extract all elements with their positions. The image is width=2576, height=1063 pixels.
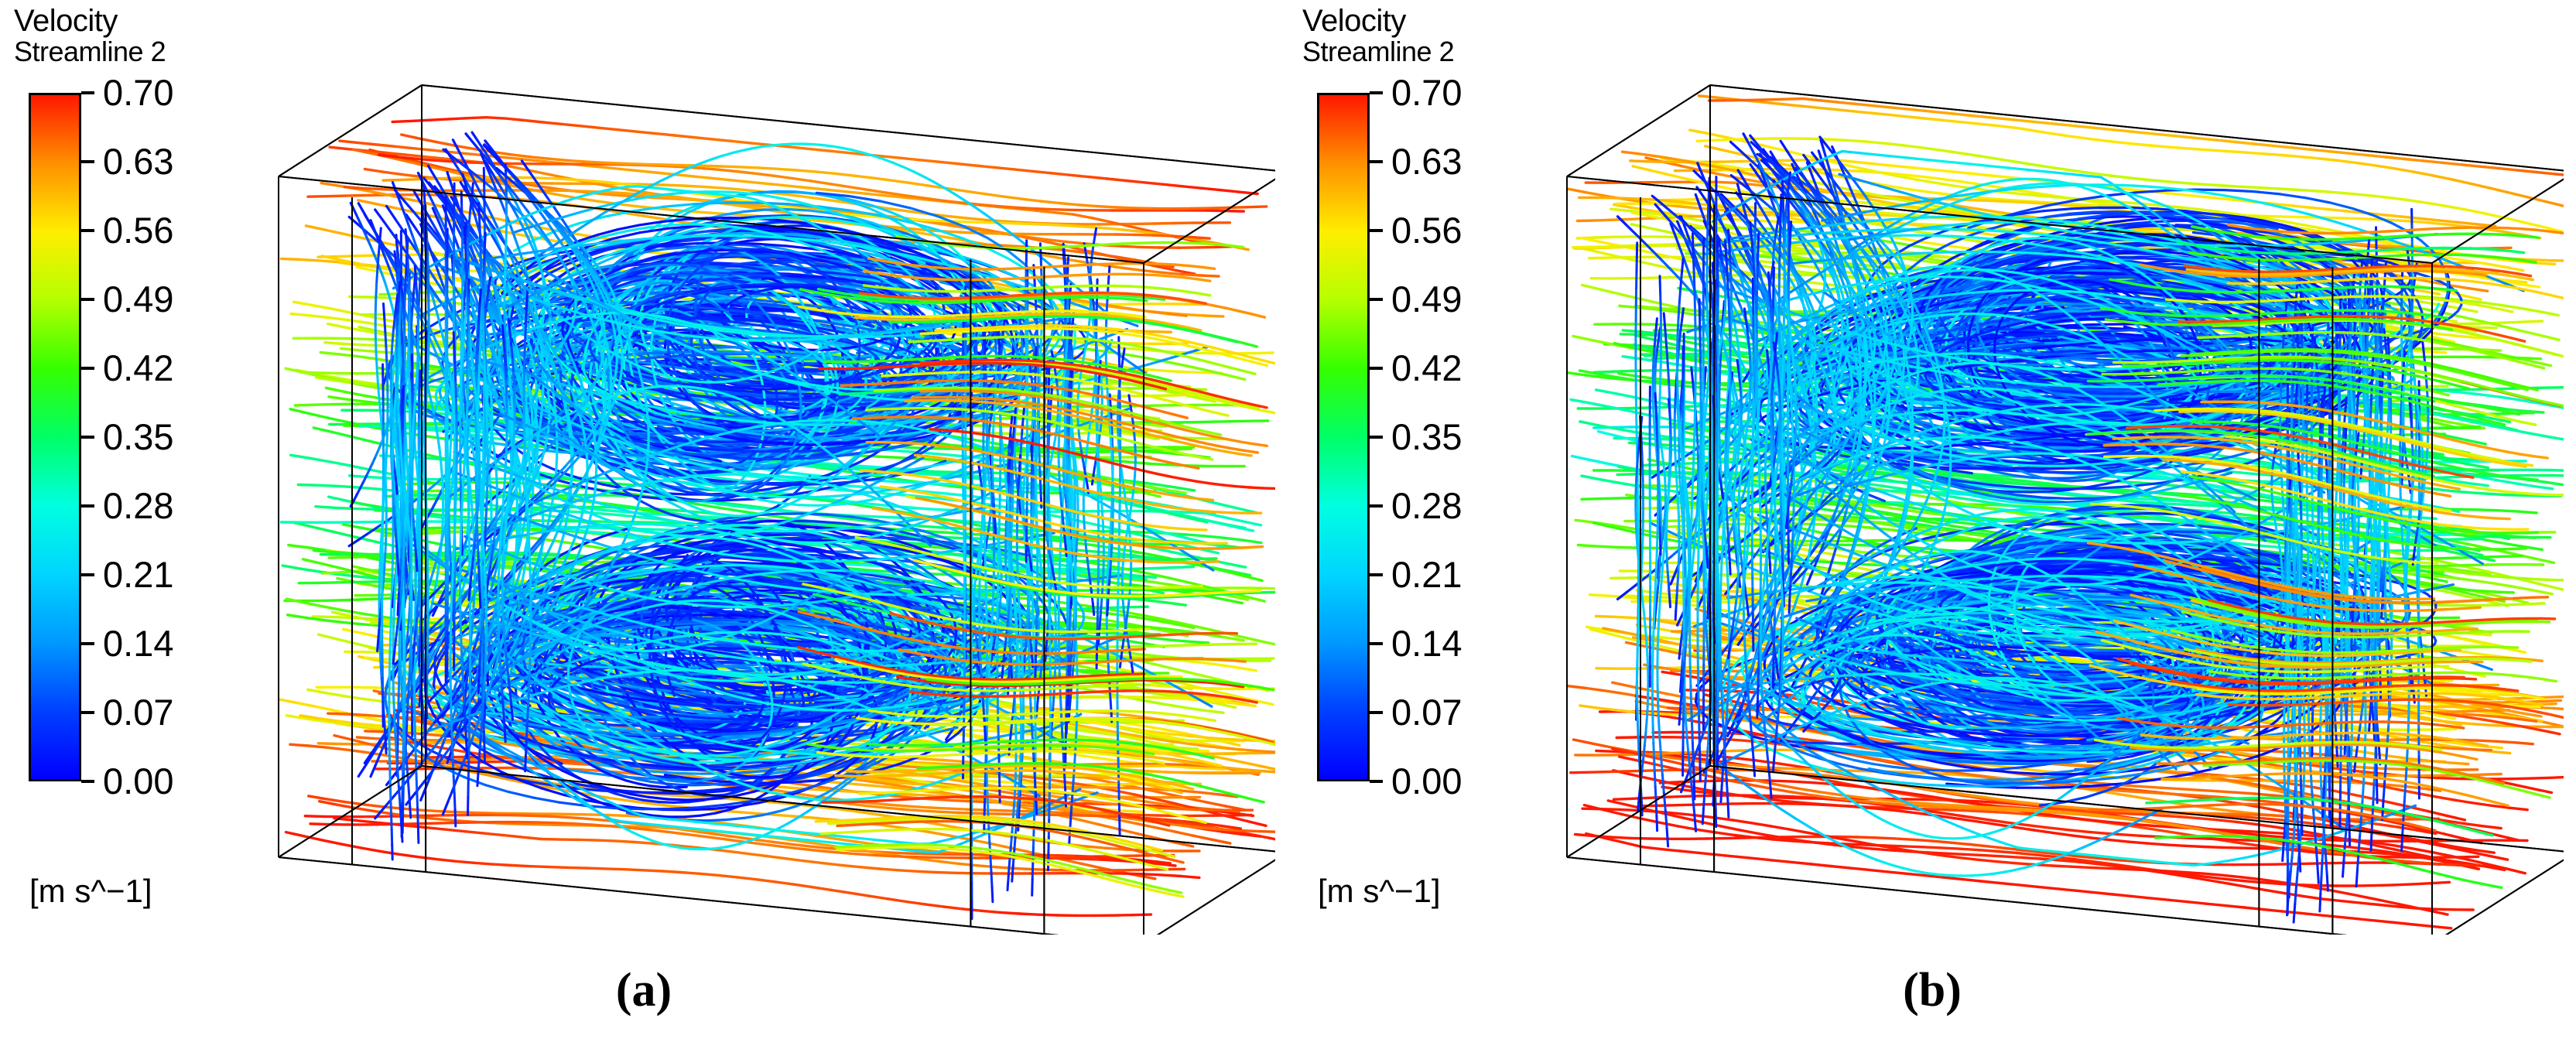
colorbar-tick-label: 0.35: [1391, 415, 1462, 459]
colorbar-tick-label: 0.14: [103, 622, 173, 665]
colorbar-ticks-a: 0.700.630.560.490.420.350.280.210.140.07…: [81, 93, 228, 781]
colorbar-tick-label: 0.28: [103, 484, 173, 528]
streamline-canvas-a: [246, 14, 1275, 935]
colorbar-gradient-b: [1317, 93, 1370, 781]
colorbar-tick-label: 0.21: [103, 553, 173, 596]
legend-title-line2: Streamline 2: [14, 36, 246, 68]
streamline-plot-b: [1534, 14, 2564, 935]
colorbar-tick-dash: [81, 436, 94, 439]
streamline-canvas-b: [1534, 14, 2564, 935]
panel-caption-a: (a): [0, 963, 1288, 1018]
colorbar-tick-dash: [1370, 91, 1383, 94]
colorbar-tick-dash: [1370, 642, 1383, 645]
colorbar-tick-label: 0.07: [103, 691, 173, 734]
legend-units-a: [m s^−1]: [29, 873, 152, 910]
colorbar-tick-dash: [81, 229, 94, 232]
colorbar-tick-dash: [1370, 367, 1383, 370]
colorbar-tick-dash: [1370, 780, 1383, 783]
colorbar-tick-dash: [1370, 298, 1383, 301]
colorbar-tick-label: 0.63: [103, 140, 173, 183]
colorbar-tick-label: 0.56: [103, 209, 173, 252]
colorbar-ticks-b: 0.700.630.560.490.420.350.280.210.140.07…: [1370, 93, 1517, 781]
panel-caption-b: (b): [1288, 963, 2576, 1018]
colorbar-tick-label: 0.21: [1391, 553, 1462, 596]
colorbar-tick-label: 0.14: [1391, 622, 1462, 665]
colorbar-tick-dash: [1370, 229, 1383, 232]
streamline-plot-a: [246, 14, 1275, 935]
colorbar-tick-label: 0.70: [103, 71, 173, 115]
legend-units-b: [m s^−1]: [1318, 873, 1441, 910]
colorbar-tick-dash: [81, 504, 94, 508]
colorbar-tick-label: 0.28: [1391, 484, 1462, 528]
colorbar-tick-dash: [81, 367, 94, 370]
colorbar-tick-dash: [1370, 711, 1383, 714]
colorbar-tick-label: 0.42: [103, 347, 173, 390]
legend-title-line1: Velocity: [1302, 4, 1406, 38]
panel-b: Velocity Streamline 2 0.700.630.560.490.…: [1288, 0, 2576, 1063]
colorbar-tick-dash: [1370, 573, 1383, 576]
colorbar-tick-dash: [1370, 160, 1383, 163]
panel-caption-a-text: (a): [616, 964, 672, 1017]
colorbar-wrap-a: 0.700.630.560.490.420.350.280.210.140.07…: [29, 93, 230, 866]
colorbar-tick-label: 0.35: [103, 415, 173, 459]
colorbar-wrap-b: 0.700.630.560.490.420.350.280.210.140.07…: [1317, 93, 1518, 866]
colorbar-tick-dash: [1370, 436, 1383, 439]
colorbar-tick-label: 0.42: [1391, 347, 1462, 390]
colorbar-tick-dash: [1370, 504, 1383, 508]
colorbar-tick-dash: [81, 298, 94, 301]
colorbar-tick-dash: [81, 160, 94, 163]
colorbar-tick-label: 0.49: [1391, 278, 1462, 321]
colorbar-tick-label: 0.07: [1391, 691, 1462, 734]
colorbar-tick-dash: [81, 711, 94, 714]
colorbar-tick-label: 0.63: [1391, 140, 1462, 183]
legend-title-a: Velocity Streamline 2: [14, 5, 246, 68]
colorbar-tick-label: 0.49: [103, 278, 173, 321]
colorbar-tick-label: 0.56: [1391, 209, 1462, 252]
colorbar-tick-dash: [81, 91, 94, 94]
colorbar-tick-label: 0.70: [1391, 71, 1462, 115]
panel-caption-b-text: (b): [1903, 964, 1962, 1017]
colorbar-legend-b: Velocity Streamline 2 0.700.630.560.490.…: [1302, 5, 1534, 956]
colorbar-tick-label: 0.00: [103, 760, 173, 803]
colorbar-gradient-a: [29, 93, 81, 781]
colorbar-tick-dash: [81, 642, 94, 645]
colorbar-tick-label: 0.00: [1391, 760, 1462, 803]
legend-title-b: Velocity Streamline 2: [1302, 5, 1534, 68]
colorbar-legend-a: Velocity Streamline 2 0.700.630.560.490.…: [14, 5, 246, 956]
legend-title-line2: Streamline 2: [1302, 36, 1534, 68]
legend-title-line1: Velocity: [14, 4, 118, 38]
panel-a: Velocity Streamline 2 0.700.630.560.490.…: [0, 0, 1288, 1063]
colorbar-tick-dash: [81, 573, 94, 576]
colorbar-tick-dash: [81, 780, 94, 783]
